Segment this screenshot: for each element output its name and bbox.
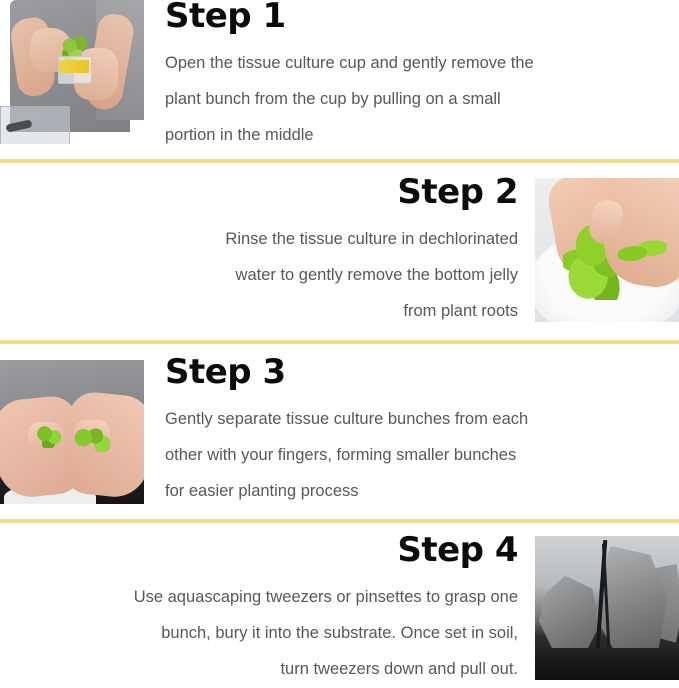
step-3-title: Step 3 (165, 352, 625, 392)
step-4-title: Step 4 (40, 530, 518, 570)
step-2-text-block: Step 2 Rinse the tissue culture in dechl… (140, 172, 518, 330)
instruction-infographic: Step 1 Open the tissue culture cup and g… (0, 0, 679, 684)
step-4-text-block: Step 4 Use aquascaping tweezers or pinse… (40, 530, 518, 688)
step-1-description: Open the tissue culture cup and gently r… (165, 46, 625, 154)
step-1-photo (0, 0, 144, 144)
step-2-description: Rinse the tissue culture in dechlorinate… (140, 222, 518, 330)
scene-rinsing-plant (535, 178, 679, 322)
step-1-title: Step 1 (165, 0, 625, 36)
scene-opening-cup (0, 0, 144, 144)
step-3-text-block: Step 3 Gently separate tissue culture bu… (165, 352, 625, 510)
step-4-description: Use aquascaping tweezers or pinsettes to… (40, 580, 518, 688)
step-2-photo (535, 178, 679, 322)
step-3-description: Gently separate tissue culture bunches f… (165, 402, 625, 510)
step-1-text-block: Step 1 Open the tissue culture cup and g… (165, 0, 625, 154)
step-2-title: Step 2 (140, 172, 518, 212)
step-4-photo (535, 536, 679, 680)
scene-aquascape-planting (535, 536, 679, 680)
step-3-photo (0, 360, 144, 504)
scene-separating-bunches (0, 360, 144, 504)
step-row-1: Step 1 Open the tissue culture cup and g… (0, 0, 679, 161)
